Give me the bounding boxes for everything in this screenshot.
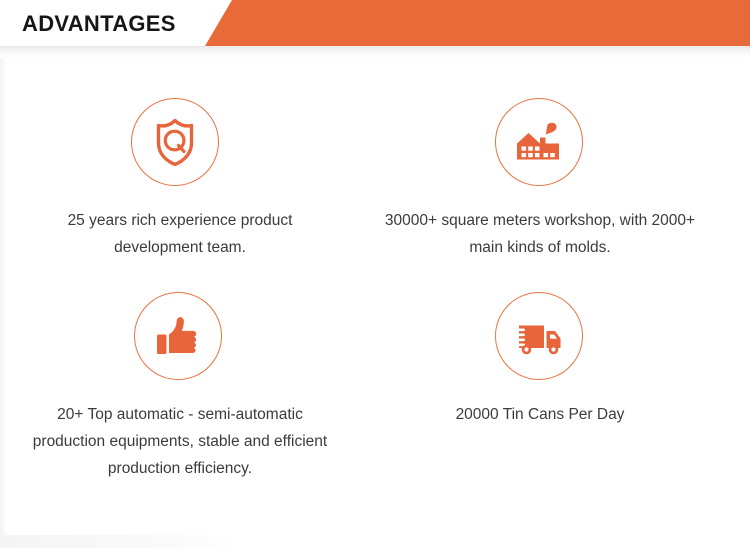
advantage-item: 30000+ square meters workshop, with 2000… (360, 98, 720, 261)
bottom-edge-gradient (0, 535, 240, 548)
delivery-truck-icon (512, 309, 566, 363)
icon-circle (495, 292, 583, 380)
advantage-item: 25 years rich experience product develop… (0, 98, 360, 261)
icon-circle (495, 98, 583, 186)
factory-icon (512, 115, 566, 169)
advantage-item: 20+ Top automatic - semi-automatic produ… (0, 292, 360, 482)
advantages-grid: 25 years rich experience product develop… (0, 58, 750, 528)
thumbs-up-icon (152, 310, 204, 362)
advantages-section: ADVANTAGES 25 years rich experience prod… (0, 0, 750, 548)
advantage-text: 25 years rich experience product develop… (0, 207, 360, 261)
icon-circle (134, 292, 222, 380)
shield-quality-icon (148, 115, 202, 169)
advantage-text: 30000+ square meters workshop, with 2000… (360, 207, 720, 261)
header-shadow (0, 46, 750, 58)
advantage-text: 20+ Top automatic - semi-automatic produ… (0, 401, 360, 482)
page-title: ADVANTAGES (22, 12, 176, 36)
advantage-item: 20000 Tin Cans Per Day (360, 292, 720, 428)
advantage-text: 20000 Tin Cans Per Day (360, 401, 720, 428)
section-header: ADVANTAGES (0, 0, 750, 46)
icon-circle (131, 98, 219, 186)
